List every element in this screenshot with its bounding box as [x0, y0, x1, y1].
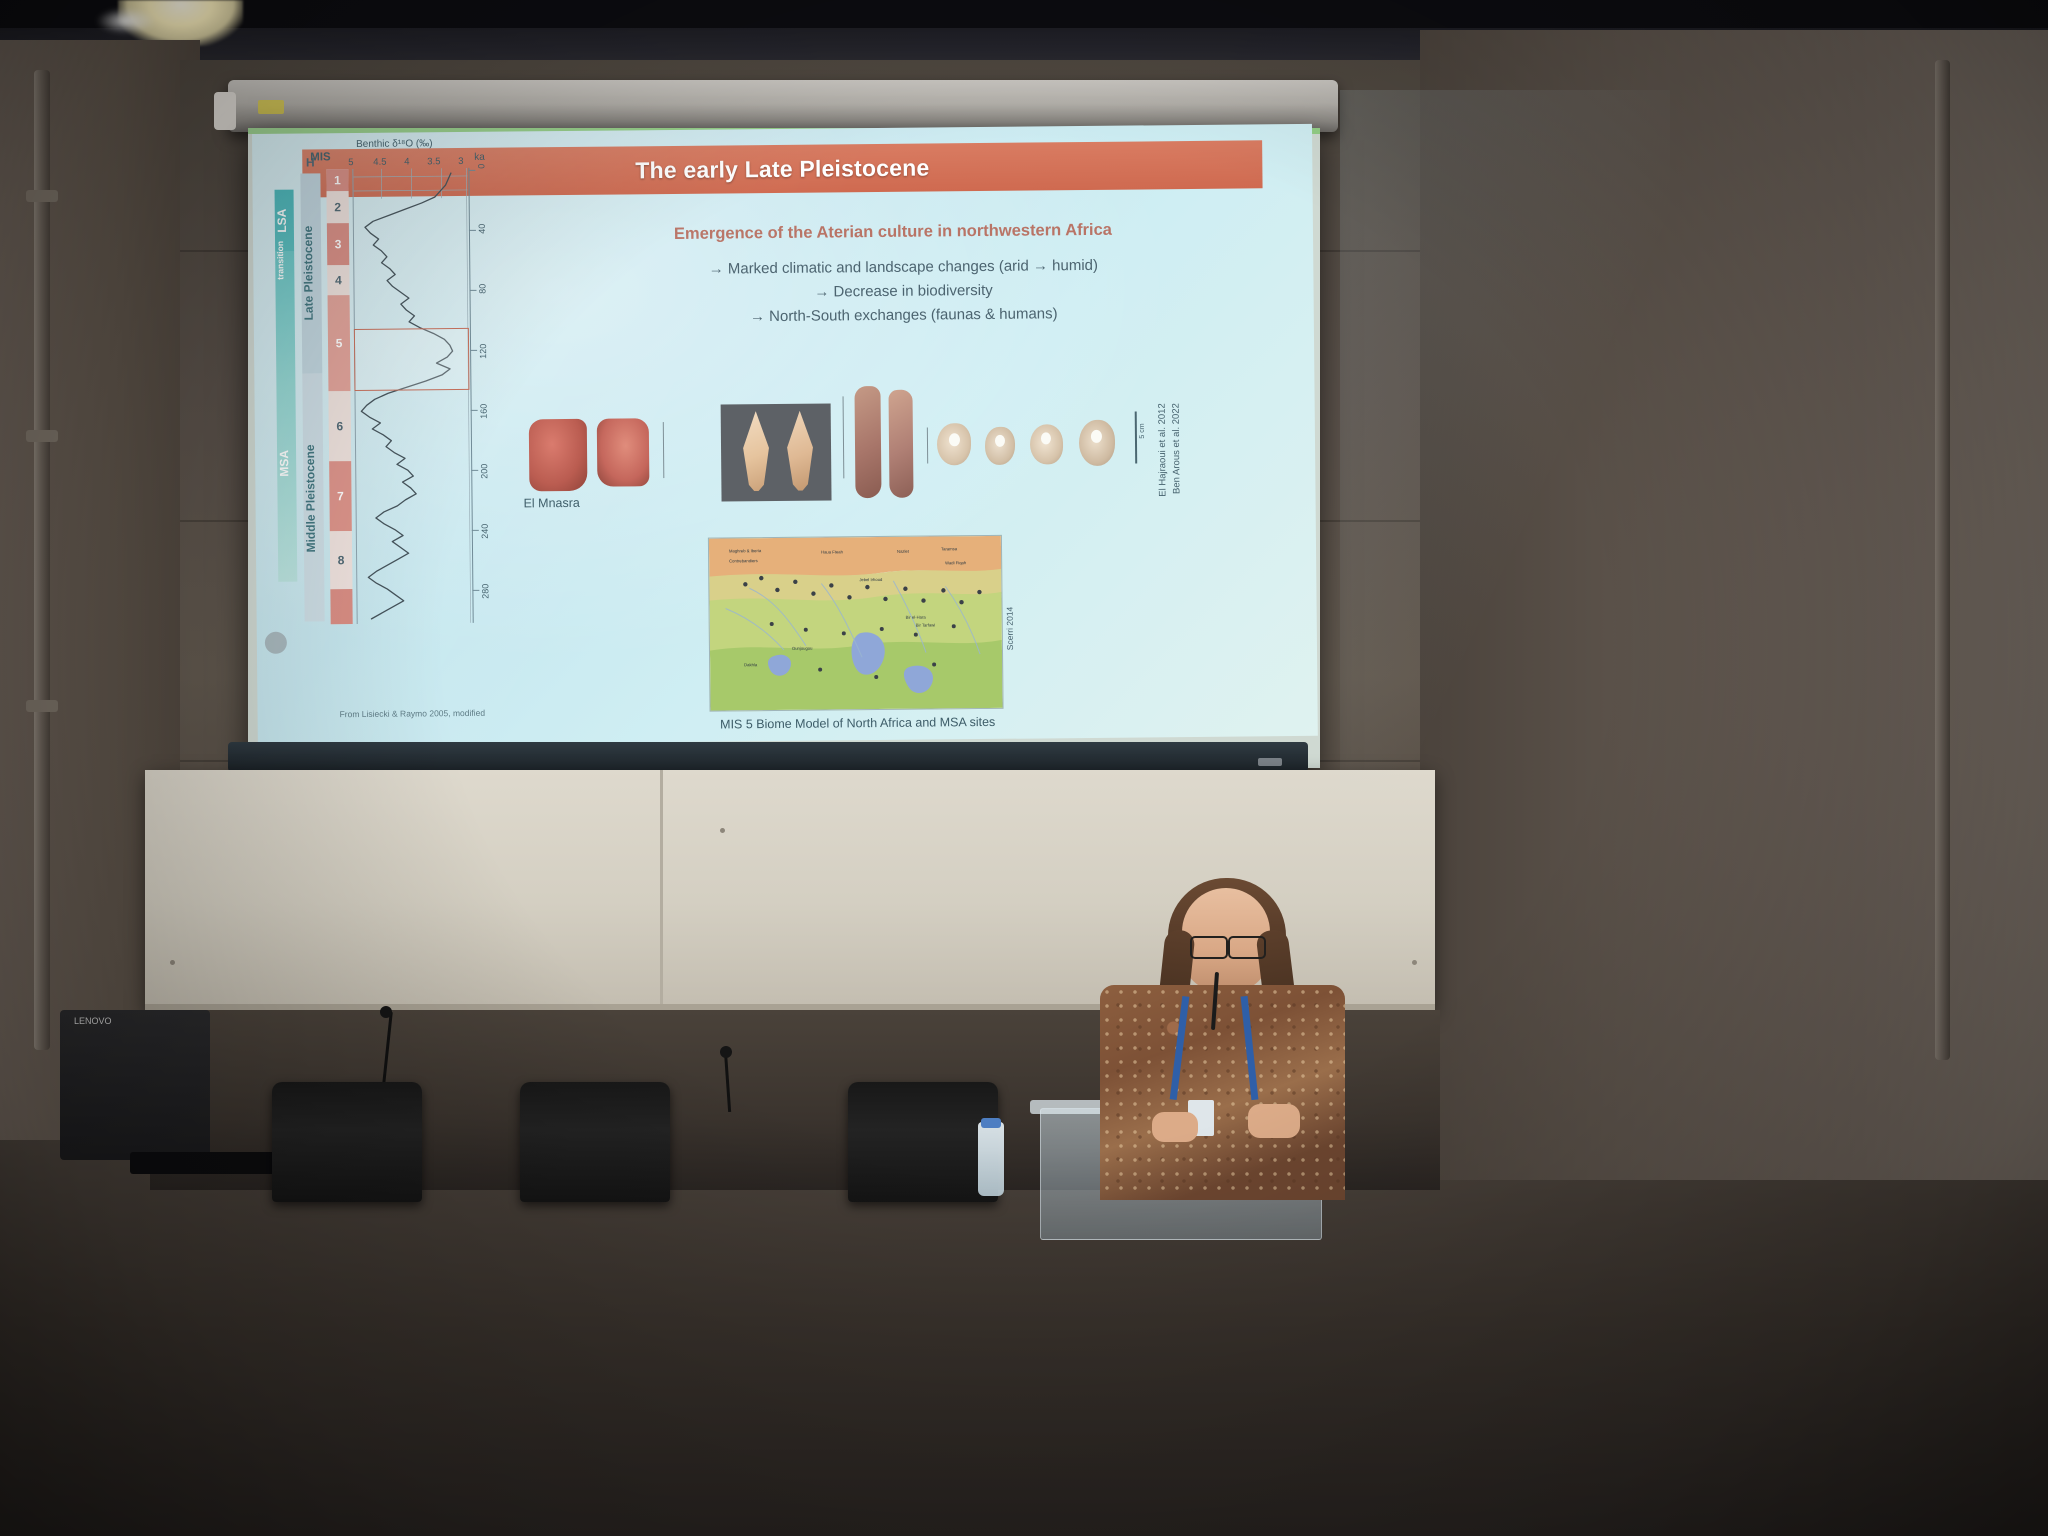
- y-tick: 240: [480, 524, 490, 539]
- svg-text:Contrebandiers: Contrebandiers: [729, 558, 758, 563]
- shell-perforation: [1091, 430, 1102, 443]
- svg-text:Wadi Fiqah: Wadi Fiqah: [945, 560, 967, 565]
- screenshot-root: The early Late Pleistocene Emergence of …: [0, 0, 2048, 1536]
- y-tick: 200: [479, 464, 489, 479]
- chart-source-note: From Lisiecki & Raymo 2005, modified: [340, 708, 486, 719]
- eyeglasses-left-lens-icon: [1190, 936, 1228, 959]
- artifact-separator: [843, 396, 845, 478]
- mis5-highlight-box: [354, 328, 470, 391]
- mis-column-header: MIS: [310, 151, 331, 163]
- artifact-separator: [663, 422, 665, 478]
- mis-stage: 7: [329, 461, 352, 531]
- svg-text:Nazlet: Nazlet: [897, 549, 910, 554]
- x-tick: 4.5: [373, 157, 386, 168]
- msa-label: MSA: [277, 434, 297, 494]
- speaker-hand-right: [1248, 1104, 1300, 1138]
- bone-tool-1: [854, 386, 881, 498]
- shell-perforation: [949, 433, 960, 446]
- control-panel[interactable]: [130, 1152, 290, 1174]
- svg-text:Jebel Irhoud: Jebel Irhoud: [859, 577, 883, 582]
- artifact-separator: [927, 428, 928, 464]
- presentation-slide: The early Late Pleistocene Emergence of …: [252, 124, 1318, 746]
- map-caption: MIS 5 Biome Model of North Africa and MS…: [678, 714, 1038, 731]
- artifact-scale-bar: [1135, 412, 1137, 464]
- svg-text:Ounjougou: Ounjougou: [792, 646, 813, 651]
- artifact-scale-label: 5 cm: [1139, 423, 1146, 438]
- ceiling-light-glare: [96, 8, 156, 34]
- mis-stage: 6: [328, 391, 351, 461]
- x-tick: 3: [458, 156, 463, 167]
- right-pipe: [1935, 60, 1950, 1060]
- msa-culture-bar: [275, 252, 297, 582]
- bullet-item-3: → North-South exchanges (faunas & humans…: [584, 301, 1224, 331]
- svg-text:Dakhla: Dakhla: [744, 662, 758, 667]
- map-graphic: Maghreb & Iberia Contrebandiers Haua Fte…: [709, 536, 1003, 711]
- mis-stage: 4: [327, 265, 349, 295]
- svg-text:Bir el-Hara: Bir el-Hara: [906, 615, 927, 620]
- y-tick: 160: [479, 404, 489, 419]
- artifact-citation-1: El Hajraoui et al. 2012: [1157, 403, 1169, 497]
- chart-axis-title: Benthic δ¹⁸O (‰): [356, 138, 433, 150]
- benthic-isotope-plot: [352, 168, 471, 624]
- eyeglasses-right-lens-icon: [1228, 936, 1266, 959]
- mis-stage: 1: [326, 169, 348, 191]
- pipe-ring: [26, 190, 58, 202]
- chart-depth-axis: [468, 168, 503, 623]
- y-tick: 120: [478, 344, 488, 359]
- x-tick: 3.5: [427, 156, 440, 167]
- perforated-shell-4: [1079, 420, 1115, 466]
- left-pipe: [34, 70, 50, 1050]
- chart-y-unit: ka: [474, 152, 485, 163]
- mis-stage: 8: [330, 531, 353, 589]
- mis-stage: 2: [327, 191, 349, 223]
- shell-perforation: [995, 435, 1005, 447]
- whiteboard-divider: [660, 770, 663, 1010]
- tanged-points-photo: [721, 403, 832, 501]
- mis5-biome-map: Maghreb & Iberia Contrebandiers Haua Fte…: [708, 535, 1004, 712]
- late-pleistocene-label: Late Pleistocene: [300, 185, 322, 360]
- x-tick: 4: [404, 156, 409, 167]
- whiteboard-mount: [1412, 960, 1417, 965]
- svg-text:Taramsa: Taramsa: [941, 546, 958, 551]
- middle-pleistocene-label: Middle Pleistocene: [303, 395, 325, 600]
- projector-screen-bracket: [214, 92, 236, 130]
- slide-corner-badge: [265, 632, 287, 654]
- whiteboard-mark: [720, 828, 725, 833]
- av-equipment-box: [60, 1010, 210, 1160]
- microphone-icon: [380, 1006, 392, 1018]
- slide-subtitle: Emergence of the Aterian culture in nort…: [583, 220, 1203, 245]
- map-citation: Scerri 2014: [1005, 607, 1015, 651]
- perforated-shell-3: [1030, 424, 1063, 464]
- equipment-brand-label: LENOVO: [74, 1016, 112, 1026]
- microphone-icon: [720, 1046, 732, 1058]
- transition-label: transition: [275, 234, 295, 288]
- ceiling-upper-band: [0, 0, 2048, 28]
- pipe-ring: [26, 430, 58, 442]
- artifact-ochre-piece-2: [597, 418, 650, 486]
- artifact-ochre-piece-1: [529, 419, 588, 492]
- svg-text:Maghreb & Iberia: Maghreb & Iberia: [729, 548, 762, 553]
- y-tick: 0: [476, 164, 486, 169]
- slide-bullet-list: → Marked climatic and landscape changes …: [583, 253, 1224, 331]
- housing-label-icon: [258, 100, 284, 114]
- chair: [272, 1082, 422, 1202]
- shell-perforation: [1041, 432, 1051, 444]
- speaker-dress-pattern: [1100, 985, 1345, 1200]
- screen-bottom-bar: [228, 742, 1308, 772]
- y-tick: 80: [477, 284, 487, 294]
- bottle-cap: [981, 1118, 1001, 1128]
- chair: [520, 1082, 670, 1202]
- svg-text:Bir Tarfawi: Bir Tarfawi: [916, 622, 936, 627]
- x-tick: 5: [348, 157, 353, 168]
- mis-stage: 5: [328, 295, 351, 391]
- bone-tool-2: [888, 390, 913, 498]
- artifact-caption: El Mnasra: [523, 496, 579, 511]
- mis-stage: 3: [327, 223, 349, 265]
- speaker-hand-left: [1152, 1112, 1198, 1142]
- isotope-curve: [353, 168, 471, 624]
- mis-stage: [330, 589, 352, 624]
- right-wall: [1420, 30, 2048, 1180]
- pipe-ring: [26, 700, 58, 712]
- screen-pull-handle[interactable]: [1258, 758, 1282, 766]
- y-tick: 40: [477, 224, 487, 234]
- chair: [848, 1082, 998, 1202]
- y-tick: 280: [480, 584, 490, 599]
- water-bottle: [978, 1122, 1004, 1196]
- artifact-citation-2: Ben Arous et al. 2022: [1171, 403, 1183, 494]
- svg-text:Haua Fteah: Haua Fteah: [821, 549, 844, 554]
- whiteboard-mount: [170, 960, 175, 965]
